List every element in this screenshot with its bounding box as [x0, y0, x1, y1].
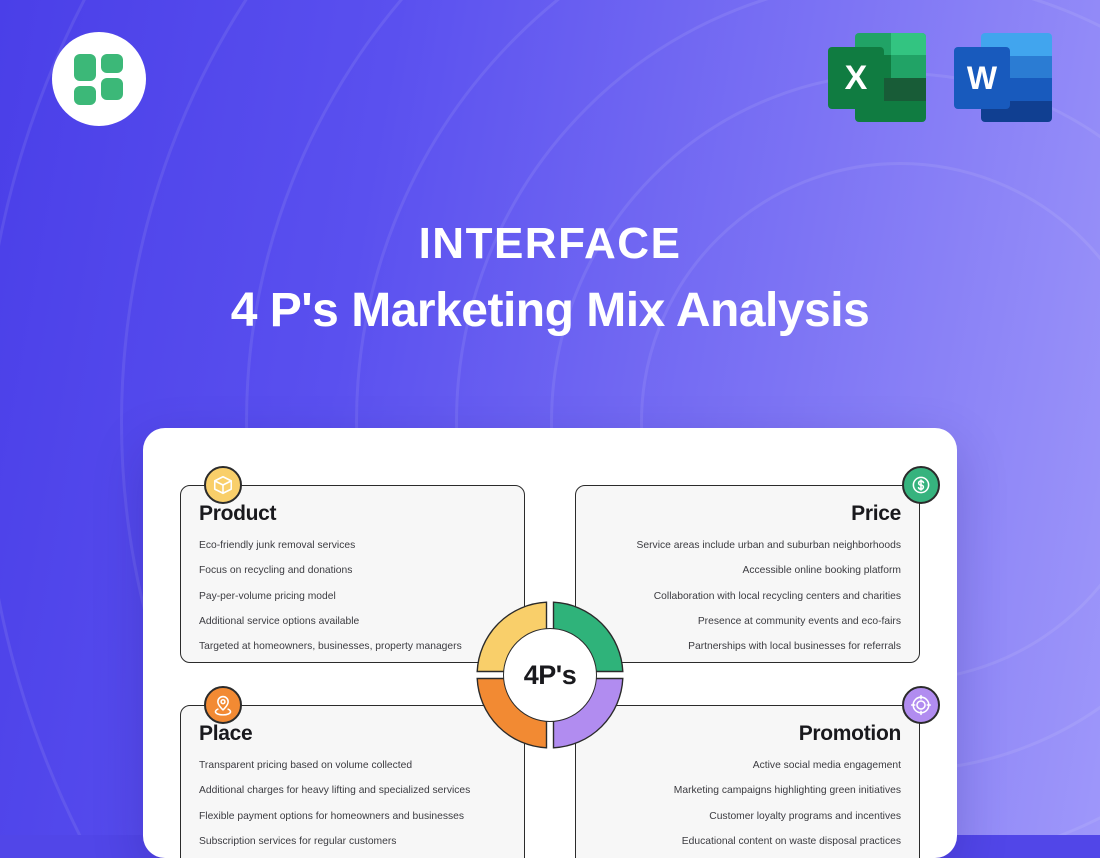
- list-item: Collaboration with local recycling cente…: [594, 591, 901, 604]
- excel-icon-letter: X: [828, 47, 884, 109]
- list-item: Service areas include urban and suburban…: [594, 540, 901, 553]
- quadrant-promotion-list: Active social media engagement Marketing…: [594, 760, 901, 858]
- brand-logo[interactable]: [52, 32, 146, 126]
- word-icon[interactable]: W: [954, 28, 1052, 123]
- heading-kicker: INTERFACE: [0, 222, 1100, 266]
- quadrant-product-list: Eco-friendly junk removal services Focus…: [199, 540, 506, 654]
- excel-icon[interactable]: X: [828, 28, 926, 123]
- quadrant-price-list: Service areas include urban and suburban…: [594, 540, 901, 654]
- connector-line-top: [525, 573, 577, 576]
- list-item: Transparent pricing based on volume coll…: [199, 760, 506, 773]
- list-item: Flexible payment options for homeowners …: [199, 811, 506, 824]
- grid-logo-icon: [74, 54, 124, 104]
- list-item: Additional charges for heavy lifting and…: [199, 785, 506, 798]
- list-item: Marketing campaigns highlighting green i…: [594, 785, 901, 798]
- donut-center: 4P's: [503, 628, 597, 722]
- page-heading: INTERFACE 4 P's Marketing Mix Analysis: [0, 222, 1100, 336]
- package-box-icon[interactable]: [204, 466, 242, 504]
- list-item: Presence at community events and eco-fai…: [594, 616, 901, 629]
- list-item: Subscription services for regular custom…: [199, 836, 506, 849]
- office-icons-group: X W: [828, 28, 1052, 123]
- word-icon-letter: W: [954, 47, 1010, 109]
- donut-center-label: 4P's: [524, 660, 576, 691]
- list-item: Eco-friendly junk removal services: [199, 540, 506, 553]
- dollar-coin-icon[interactable]: [902, 466, 940, 504]
- quadrant-place-list: Transparent pricing based on volume coll…: [199, 760, 506, 858]
- list-item: Targeted at homeowners, businesses, prop…: [199, 641, 506, 654]
- list-item: Additional service options available: [199, 616, 506, 629]
- location-pin-icon[interactable]: [204, 686, 242, 724]
- list-item: Accessible online booking platform: [594, 565, 901, 578]
- list-item: Pay-per-volume pricing model: [199, 591, 506, 604]
- list-item: Customer loyalty programs and incentives: [594, 811, 901, 824]
- list-item: Partnerships with local businesses for r…: [594, 641, 901, 654]
- list-item: Focus on recycling and donations: [199, 565, 506, 578]
- list-item: Educational content on waste disposal pr…: [594, 836, 901, 849]
- connector-line-bottom: [525, 793, 577, 796]
- four-p-grid: Product Eco-friendly junk removal servic…: [180, 485, 920, 858]
- donut-chart: 4P's: [470, 595, 630, 755]
- quadrant-price-title: Price: [594, 502, 901, 526]
- quadrant-promotion-title: Promotion: [594, 722, 901, 746]
- target-crosshair-icon[interactable]: [902, 686, 940, 724]
- diagram-card: Product Eco-friendly junk removal servic…: [143, 428, 957, 858]
- quadrant-place-title: Place: [199, 722, 506, 746]
- list-item: Active social media engagement: [594, 760, 901, 773]
- page-title: 4 P's Marketing Mix Analysis: [0, 286, 1100, 336]
- quadrant-product-title: Product: [199, 502, 506, 526]
